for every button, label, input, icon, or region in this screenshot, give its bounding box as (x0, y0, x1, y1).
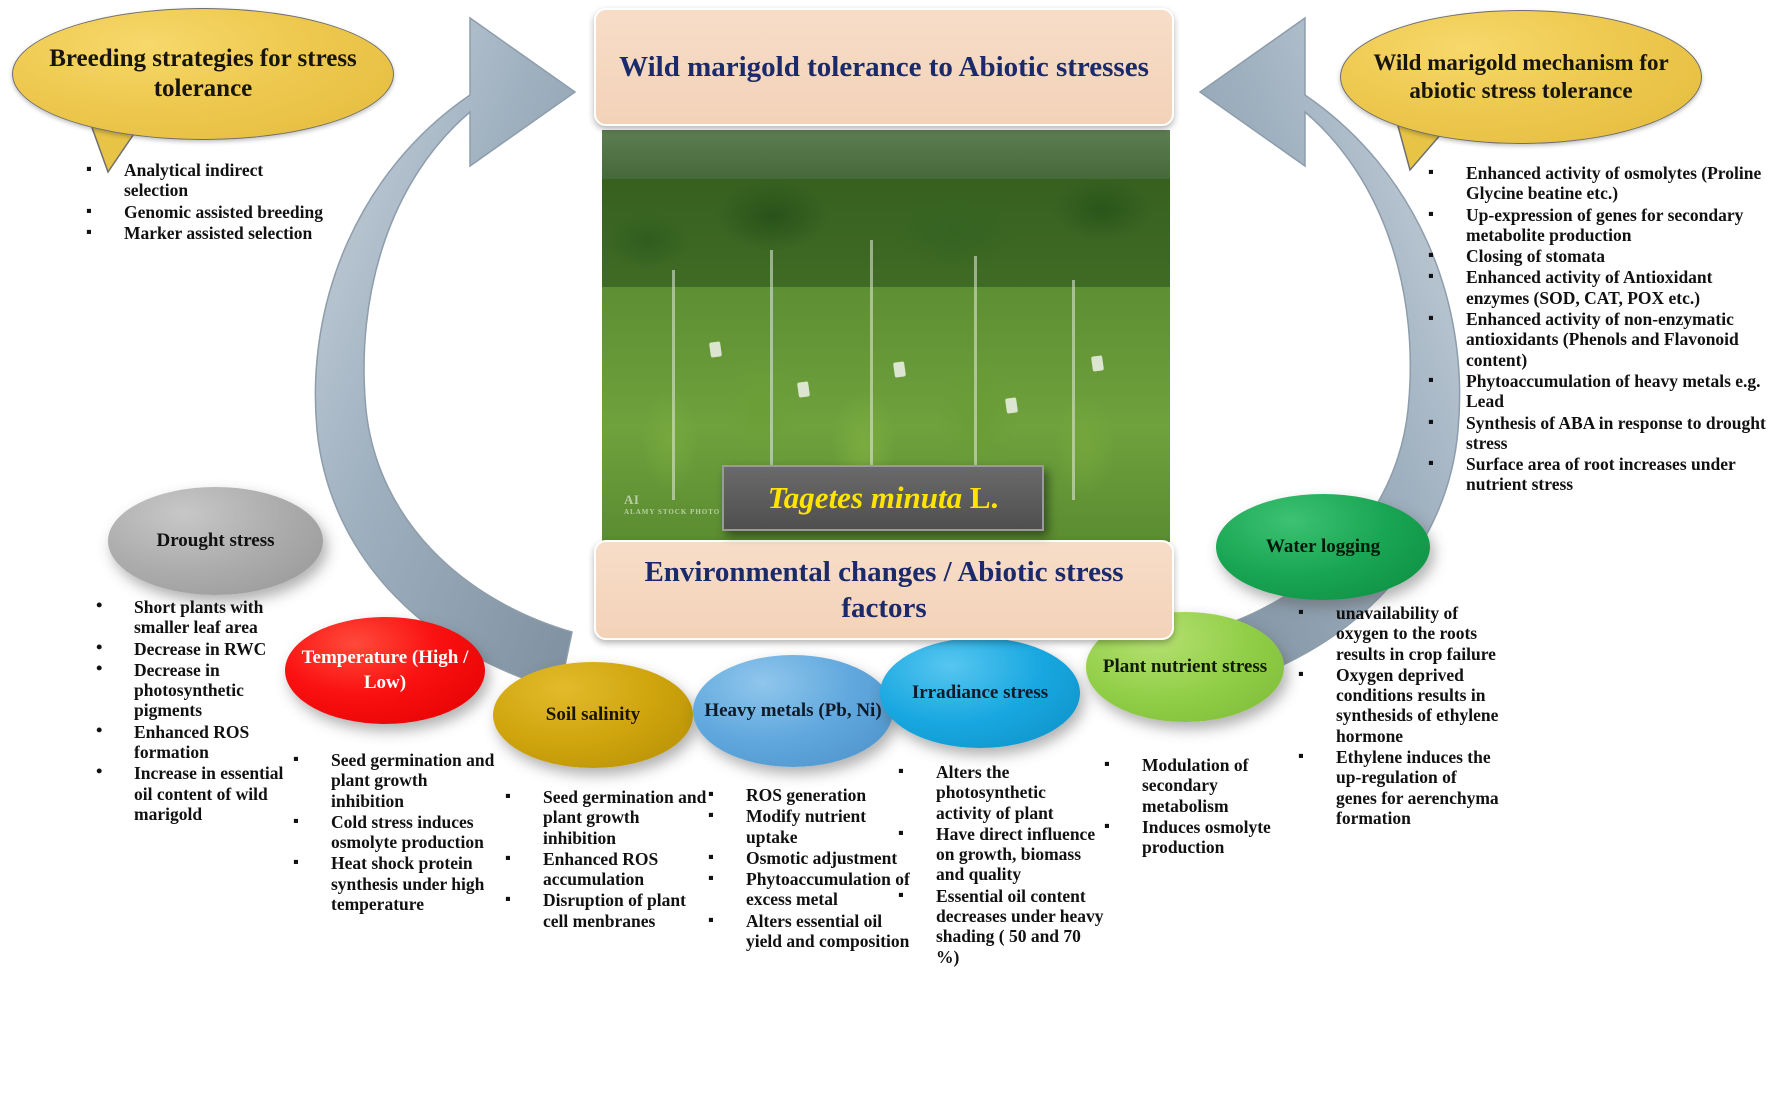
photo-label-tag (1091, 355, 1104, 371)
list-item: Decrease in photosynthetic pigments (88, 660, 303, 721)
list-item: Phytoaccumulation of excess metal (700, 869, 915, 910)
list-item: Enhanced ROS accumulation (497, 849, 707, 890)
list-item: Modulation of secondary metabolism (1096, 755, 1301, 816)
list-item: Marker assisted selection (78, 223, 328, 243)
right-callout-bubble: Wild marigold mechanism for abiotic stre… (1340, 10, 1702, 144)
page-title: Wild marigold tolerance to Abiotic stres… (619, 49, 1149, 85)
list-item: Induces osmolyte production (1096, 817, 1301, 858)
stressor-ellipse-water-logging[interactable]: Water logging (1216, 494, 1430, 600)
stressor-label: Temperature (High / Low) (285, 646, 485, 695)
stressor-ellipse-heavy-metals[interactable]: Heavy metals (Pb, Ni) (693, 655, 893, 767)
soil-salinity-bullets: Seed germination and plant growth inhibi… (497, 787, 707, 932)
list-item: Cold stress induces osmolyte production (285, 812, 500, 853)
photo-stem (672, 270, 675, 500)
left-callout-bullets: Analytical indirect selection Genomic as… (78, 160, 328, 244)
list-item: Decrease in RWC (88, 639, 303, 659)
species-authority: L. (970, 480, 998, 515)
environmental-changes-title: Environmental changes / Abiotic stress f… (614, 554, 1154, 627)
photo-label-tag (1005, 397, 1018, 413)
list-item: unavailability of oxygen to the roots re… (1290, 603, 1500, 664)
list-item: ROS generation (700, 785, 915, 805)
watermark: AI ALAMY STOCK PHOTO (624, 492, 720, 516)
right-callout-title: Wild marigold mechanism for abiotic stre… (1341, 49, 1701, 105)
list-item: Enhanced activity of osmolytes (Proline … (1420, 163, 1772, 204)
soil-salinity-bullet-list: Seed germination and plant growth inhibi… (497, 787, 707, 931)
species-name-plate: Tagetes minuta L. (722, 465, 1044, 531)
list-item: Surface area of root increases under nut… (1420, 454, 1772, 495)
species-binomial: Tagetes minuta (768, 480, 962, 515)
list-item: Disruption of plant cell menbranes (497, 890, 707, 931)
list-item: Phytoaccumulation of heavy metals e.g. L… (1420, 371, 1772, 412)
list-item: Seed germination and plant growth inhibi… (497, 787, 707, 848)
stressor-ellipse-soil-salinity[interactable]: Soil salinity (493, 662, 693, 768)
list-item: Ethylene induces the up-regulation of ge… (1290, 747, 1500, 828)
irradiance-bullets: Alters the photosynthetic activity of pl… (890, 762, 1105, 968)
watermark-mark: AI (624, 492, 639, 507)
stressor-label: Plant nutrient stress (1097, 655, 1273, 680)
stressor-ellipse-drought[interactable]: Drought stress (108, 487, 323, 595)
drought-bullet-list: Short plants with smaller leaf area Decr… (88, 597, 303, 824)
plant-nutrient-bullets: Modulation of secondary metabolism Induc… (1096, 755, 1301, 858)
stressor-label: Heavy metals (Pb, Ni) (698, 699, 887, 724)
stressor-ellipse-irradiance[interactable]: Irradiance stress (880, 638, 1080, 748)
list-item: Osmotic adjustment (700, 848, 915, 868)
heavy-metals-bullets: ROS generation Modify nutrient uptake Os… (700, 785, 915, 952)
list-item: Genomic assisted breeding (78, 202, 328, 222)
stressor-label: Soil salinity (540, 703, 647, 728)
list-item: Increase in essential oil content of wil… (88, 763, 303, 824)
left-callout-title: Breeding strategies for stress tolerance (13, 44, 393, 105)
photo-label-tag (709, 341, 722, 357)
water-logging-bullets: unavailability of oxygen to the roots re… (1290, 603, 1500, 829)
list-item: Alters the photosynthetic activity of pl… (890, 762, 1105, 823)
breeding-bullet-list: Analytical indirect selection Genomic as… (78, 160, 328, 243)
list-item: Essential oil content decreases under he… (890, 886, 1105, 967)
drought-bullets: Short plants with smaller leaf area Decr… (88, 597, 303, 825)
list-item: Enhanced ROS formation (88, 722, 303, 763)
temperature-bullets: Seed germination and plant growth inhibi… (285, 750, 500, 915)
left-callout-bubble: Breeding strategies for stress tolerance (12, 8, 394, 140)
plant-nutrient-bullet-list: Modulation of secondary metabolism Induc… (1096, 755, 1301, 857)
list-item: Synthesis of ABA in response to drought … (1420, 413, 1772, 454)
list-item: Alters essential oil yield and compositi… (700, 911, 915, 952)
temperature-bullet-list: Seed germination and plant growth inhibi… (285, 750, 500, 914)
right-callout-bullets: Enhanced activity of osmolytes (Proline … (1420, 163, 1772, 496)
stressor-label: Drought stress (150, 529, 280, 554)
stressor-label: Water logging (1260, 535, 1386, 560)
photo-label-tag (797, 381, 810, 397)
photo-label-tag (893, 361, 906, 377)
list-item: Enhanced activity of non-enzymatic antio… (1420, 309, 1772, 370)
center-top-title-box: Wild marigold tolerance to Abiotic stres… (594, 8, 1174, 126)
list-item: Have direct influence on growth, biomass… (890, 824, 1105, 885)
stressor-ellipse-temperature[interactable]: Temperature (High / Low) (285, 617, 485, 724)
photo-stem (770, 250, 773, 500)
photo-stem (1072, 280, 1075, 500)
list-item: Enhanced activity of Antioxidant enzymes… (1420, 267, 1772, 308)
list-item: Short plants with smaller leaf area (88, 597, 303, 638)
list-item: Heat shock protein synthesis under high … (285, 853, 500, 914)
heavy-metals-bullet-list: ROS generation Modify nutrient uptake Os… (700, 785, 915, 951)
list-item: Up-expression of genes for secondary met… (1420, 205, 1772, 246)
list-item: Analytical indirect selection (78, 160, 328, 201)
arrow-left-up (315, 18, 575, 690)
stressor-label: Irradiance stress (906, 681, 1054, 706)
mechanism-bullet-list: Enhanced activity of osmolytes (Proline … (1420, 163, 1772, 495)
list-item: Oxygen deprived conditions results in sy… (1290, 665, 1500, 746)
water-logging-bullet-list: unavailability of oxygen to the roots re… (1290, 603, 1500, 828)
irradiance-bullet-list: Alters the photosynthetic activity of pl… (890, 762, 1105, 967)
watermark-sub: ALAMY STOCK PHOTO (624, 508, 720, 516)
list-item: Modify nutrient uptake (700, 806, 915, 847)
list-item: Closing of stomata (1420, 246, 1772, 266)
list-item: Seed germination and plant growth inhibi… (285, 750, 500, 811)
center-bottom-title-box: Environmental changes / Abiotic stress f… (594, 540, 1174, 640)
